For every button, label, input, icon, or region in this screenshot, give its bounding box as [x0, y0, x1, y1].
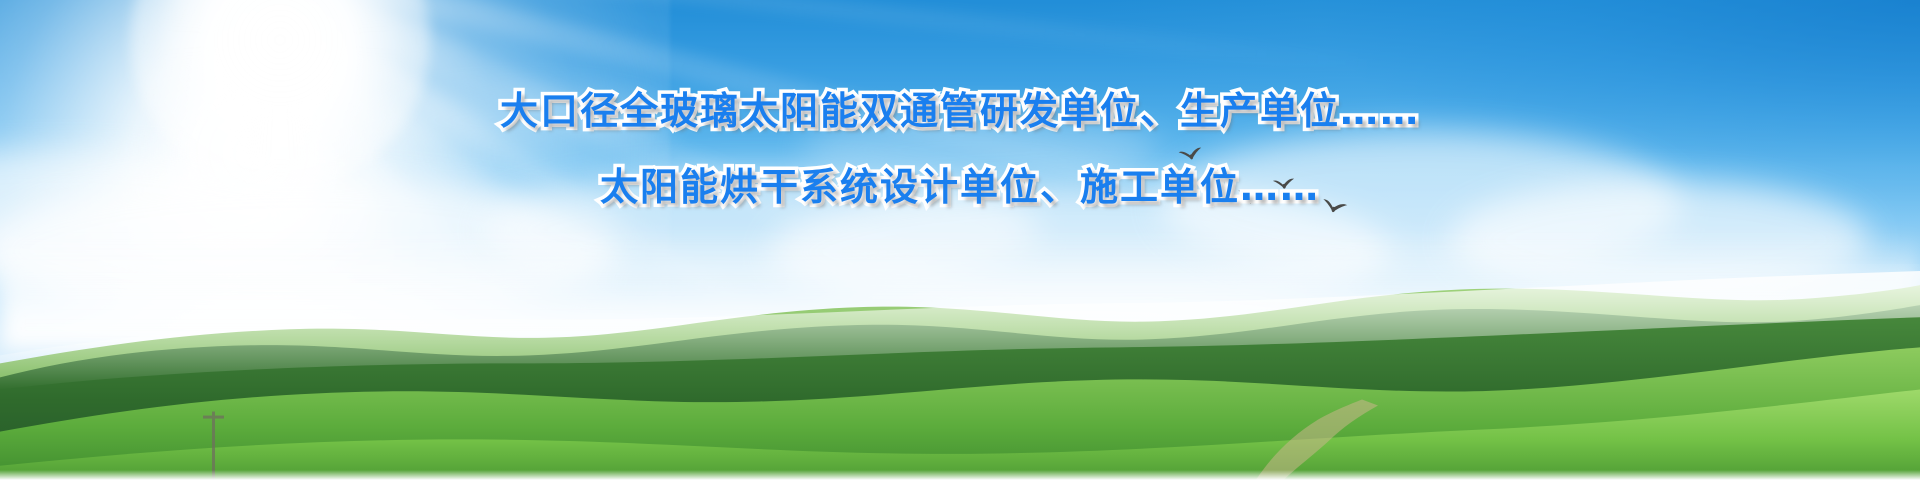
cloud-7	[800, 115, 1160, 185]
bottom-fade	[0, 470, 1920, 480]
hills-svg	[0, 259, 1920, 480]
hero-banner: 大口径全玻璃太阳能双通管研发单位、生产单位…… 大口径全玻璃太阳能双通管研发单位…	[0, 0, 1920, 480]
green-hills	[0, 259, 1920, 480]
bird-svg	[1271, 177, 1296, 192]
cloud-8	[370, 90, 670, 150]
bird-icon-3	[1271, 177, 1296, 192]
